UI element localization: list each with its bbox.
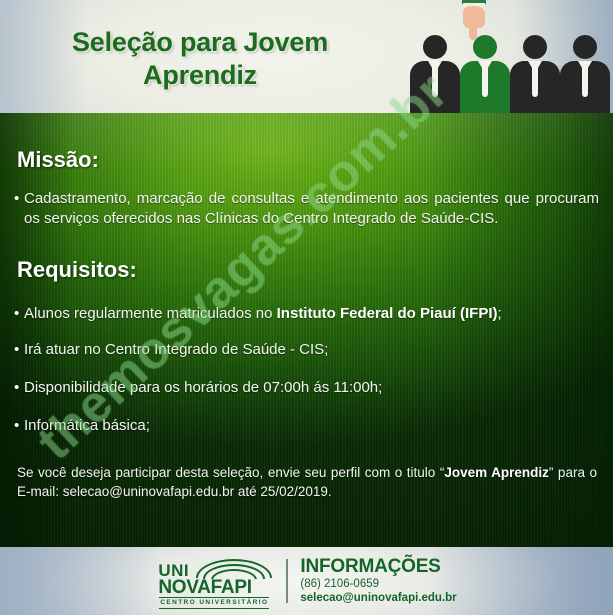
requirement-bullet-4: • Informática básica; bbox=[0, 416, 613, 436]
people-group-illustration bbox=[404, 0, 613, 117]
footer-divider bbox=[286, 559, 288, 603]
bullet-marker: • bbox=[0, 304, 24, 324]
person-dark-3-icon bbox=[560, 35, 610, 113]
person-head bbox=[573, 35, 597, 59]
person-dark-2-icon bbox=[510, 35, 560, 113]
requirement-bullet-2: • Irá atuar no Centro Integrado de Saúde… bbox=[0, 340, 613, 360]
person-green-selected-icon bbox=[460, 35, 510, 113]
logo-centro-universitario-text: CENTRO UNIVERSITÁRIO bbox=[159, 597, 269, 609]
person-dark-1-icon bbox=[410, 35, 460, 113]
req-1-post: ; bbox=[497, 305, 501, 322]
person-head bbox=[523, 35, 547, 59]
footer-email: selecao@uninovafapi.edu.br bbox=[300, 591, 456, 605]
person-head bbox=[473, 35, 497, 59]
closing-part-1: Se você deseja participar desta seleção,… bbox=[17, 465, 444, 480]
bullet-marker: • bbox=[0, 378, 24, 398]
bullet-marker: • bbox=[0, 189, 24, 209]
person-head bbox=[423, 35, 447, 59]
footer-content: UNI NOVAFAPI CENTRO UNIVERSITÁRIO INFORM… bbox=[0, 547, 613, 615]
page-title: Seleção para Jovem Aprendiz bbox=[24, 26, 376, 92]
uninovafapi-logo: UNI NOVAFAPI CENTRO UNIVERSITÁRIO bbox=[156, 558, 274, 604]
mission-heading: Missão: bbox=[17, 147, 613, 173]
requirement-bullet-text: Informática básica; bbox=[24, 416, 613, 436]
closing-bold: Jovem Aprendiz bbox=[444, 465, 549, 480]
logo-arc-icon bbox=[196, 559, 272, 579]
requirement-bullet-text: Irá atuar no Centro Integrado de Saúde -… bbox=[24, 340, 613, 360]
poster-body: Missão: • Cadastramento, marcação de con… bbox=[0, 113, 613, 547]
requirements-heading: Requisitos: bbox=[17, 257, 613, 283]
poster-root: Seleção para Jovem Aprendiz bbox=[0, 0, 613, 615]
closing-paragraph: Se você deseja participar desta seleção,… bbox=[0, 463, 613, 501]
person-tie bbox=[532, 65, 538, 97]
footer-info-title: INFORMAÇÕES bbox=[300, 557, 456, 577]
poster-footer: UNI NOVAFAPI CENTRO UNIVERSITÁRIO INFORM… bbox=[0, 547, 613, 615]
bullet-marker: • bbox=[0, 340, 24, 360]
bullet-marker: • bbox=[0, 416, 24, 436]
req-1-bold: Instituto Federal do Piauí (IFPI) bbox=[277, 305, 498, 322]
logo-novafapi-text: NOVAFAPI bbox=[158, 577, 251, 599]
requirement-bullet-3: • Disponibilidade para os horários de 07… bbox=[0, 378, 613, 398]
requirement-bullet-text: Alunos regularmente matriculados no Inst… bbox=[24, 304, 613, 324]
footer-info-block: INFORMAÇÕES (86) 2106-0659 selecao@unino… bbox=[300, 557, 456, 605]
poster-header: Seleção para Jovem Aprendiz bbox=[0, 0, 613, 117]
mission-bullet-text: Cadastramento, marcação de consultas e a… bbox=[24, 189, 613, 229]
poster-content: Missão: • Cadastramento, marcação de con… bbox=[0, 113, 613, 501]
requirement-bullet-1: • Alunos regularmente matriculados no In… bbox=[0, 304, 613, 324]
mission-bullet-1: • Cadastramento, marcação de consultas e… bbox=[0, 189, 613, 229]
req-1-pre: Alunos regularmente matriculados no bbox=[24, 305, 277, 322]
person-tie bbox=[582, 65, 588, 97]
person-tie bbox=[432, 65, 438, 97]
person-tie bbox=[482, 65, 488, 97]
requirement-bullet-text: Disponibilidade para os horários de 07:0… bbox=[24, 378, 613, 398]
footer-phone: (86) 2106-0659 bbox=[300, 577, 456, 591]
